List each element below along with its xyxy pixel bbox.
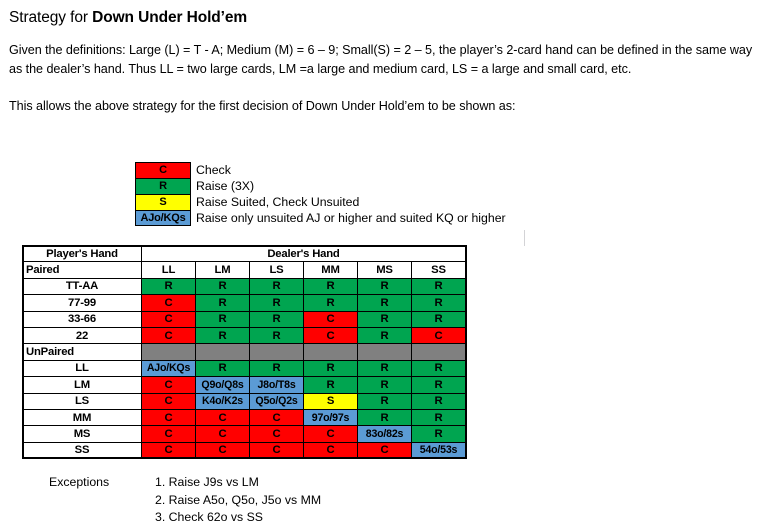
dealer-column-header-ms: MS: [358, 262, 412, 278]
strategy-cell: R: [358, 360, 412, 376]
section-spacer-cell: [358, 344, 412, 360]
strategy-cell: C: [142, 327, 196, 343]
strategy-cell: C: [142, 295, 196, 311]
strategy-cell: R: [358, 409, 412, 425]
table-row: MSCCCC83o/82sR: [23, 426, 466, 442]
strategy-cell: C: [250, 409, 304, 425]
strategy-cell: K4o/K2s: [196, 393, 250, 409]
strategy-cell: R: [412, 377, 466, 393]
strategy-cell: 54o/53s: [412, 442, 466, 458]
strategy-cell: C: [142, 311, 196, 327]
strategy-cell: R: [304, 360, 358, 376]
player-hand-label: 77-99: [23, 295, 142, 311]
section-spacer-cell: [142, 344, 196, 360]
section-header-unpaired: UnPaired: [23, 344, 142, 360]
strategy-cell: R: [304, 377, 358, 393]
strategy-cell: C: [304, 311, 358, 327]
legend-row: AJo/KQsRaise only unsuited AJ or higher …: [135, 210, 506, 226]
player-hand-label: MM: [23, 409, 142, 425]
exceptions-list: 1. Raise J9s vs LM2. Raise A5o, Q5o, J5o…: [155, 474, 321, 527]
table-column-header-row: PairedLLLMLSMMMSSS: [23, 262, 466, 278]
strategy-cell: C: [196, 442, 250, 458]
dealer-column-header-lm: LM: [196, 262, 250, 278]
legend-description: Raise Suited, Check Unsuited: [196, 194, 359, 210]
strategy-cell: C: [304, 442, 358, 458]
strategy-cell: R: [358, 327, 412, 343]
exception-item: 2. Raise A5o, Q5o, J5o vs MM: [155, 492, 321, 510]
strategy-cell: R: [358, 311, 412, 327]
player-hand-label: MS: [23, 426, 142, 442]
strategy-cell: C: [142, 377, 196, 393]
dealer-hand-header: Dealer's Hand: [142, 246, 466, 262]
strategy-cell: 97o/97s: [304, 409, 358, 425]
section-spacer-cell: [304, 344, 358, 360]
strategy-cell: R: [412, 360, 466, 376]
strategy-cell: Q5o/Q2s: [250, 393, 304, 409]
strategy-cell: C: [142, 393, 196, 409]
intro-paragraph: This allows the above strategy for the f…: [9, 97, 754, 116]
strategy-cell: C: [142, 409, 196, 425]
legend-row: RRaise (3X): [135, 178, 506, 194]
player-hand-label: 33-66: [23, 311, 142, 327]
strategy-cell: J8o/T8s: [250, 377, 304, 393]
player-hand-label: 22: [23, 327, 142, 343]
section-header-row-unpaired: UnPaired: [23, 344, 466, 360]
table-header-row: Player's HandDealer's Hand: [23, 246, 466, 262]
player-hand-label: SS: [23, 442, 142, 458]
strategy-cell: Q9o/Q8s: [196, 377, 250, 393]
section-spacer-cell: [196, 344, 250, 360]
strategy-cell: C: [304, 426, 358, 442]
dealer-column-header-mm: MM: [304, 262, 358, 278]
player-hand-header: Player's Hand: [23, 246, 142, 262]
strategy-table: Player's HandDealer's HandPairedLLLMLSMM…: [22, 245, 466, 459]
strategy-cell: R: [250, 295, 304, 311]
strategy-cell: R: [358, 377, 412, 393]
page-title-subject: Down Under Hold’em: [92, 9, 247, 26]
strategy-cell: C: [250, 442, 304, 458]
table-row: 33-66CRRCRR: [23, 311, 466, 327]
table-row: TT-AARRRRRR: [23, 278, 466, 294]
player-hand-label: LL: [23, 360, 142, 376]
strategy-cell: C: [142, 442, 196, 458]
player-hand-label: LS: [23, 393, 142, 409]
dealer-column-header-ll: LL: [142, 262, 196, 278]
strategy-cell: AJo/KQs: [142, 360, 196, 376]
page-title-prefix: Strategy for: [9, 9, 92, 26]
strategy-cell: R: [358, 278, 412, 294]
text-cursor-artifact: [524, 230, 525, 246]
strategy-cell: R: [250, 360, 304, 376]
exception-item: 1. Raise J9s vs LM: [155, 474, 321, 492]
table-row: 77-99CRRRRR: [23, 295, 466, 311]
player-hand-label: LM: [23, 377, 142, 393]
table-row: 22CRRCRC: [23, 327, 466, 343]
strategy-cell: R: [304, 295, 358, 311]
table-row: LSCK4o/K2sQ5o/Q2sSRR: [23, 393, 466, 409]
strategy-cell: R: [412, 426, 466, 442]
strategy-cell: R: [412, 278, 466, 294]
dealer-column-header-ls: LS: [250, 262, 304, 278]
strategy-cell: R: [412, 311, 466, 327]
strategy-cell: R: [142, 278, 196, 294]
strategy-cell: R: [250, 311, 304, 327]
strategy-cell: R: [304, 278, 358, 294]
strategy-cell: C: [250, 426, 304, 442]
strategy-cell: C: [412, 327, 466, 343]
legend: CCheckRRaise (3X)SRaise Suited, Check Un…: [135, 162, 506, 226]
legend-description: Raise only unsuited AJ or higher and sui…: [196, 210, 506, 226]
strategy-cell: C: [196, 426, 250, 442]
strategy-cell: R: [196, 360, 250, 376]
strategy-cell: C: [196, 409, 250, 425]
player-hand-label: TT-AA: [23, 278, 142, 294]
dealer-column-header-ss: SS: [412, 262, 466, 278]
table-row: LLAJo/KQsRRRRR: [23, 360, 466, 376]
strategy-cell: R: [196, 295, 250, 311]
table-row: LMCQ9o/Q8sJ8o/T8sRRR: [23, 377, 466, 393]
legend-swatch: AJo/KQs: [135, 210, 191, 226]
strategy-cell: C: [358, 442, 412, 458]
strategy-cell: R: [196, 327, 250, 343]
legend-row: SRaise Suited, Check Unsuited: [135, 194, 506, 210]
legend-swatch: S: [135, 194, 191, 210]
strategy-cell: R: [412, 393, 466, 409]
strategy-cell: S: [304, 393, 358, 409]
table-row: SSCCCCC54o/53s: [23, 442, 466, 458]
strategy-cell: R: [250, 327, 304, 343]
section-spacer-cell: [412, 344, 466, 360]
legend-swatch: C: [135, 162, 191, 178]
strategy-cell: R: [412, 295, 466, 311]
page-title: Strategy for Down Under Hold’em: [9, 8, 247, 27]
strategy-cell: R: [196, 311, 250, 327]
strategy-cell: R: [358, 295, 412, 311]
legend-description: Raise (3X): [196, 178, 254, 194]
strategy-cell: R: [196, 278, 250, 294]
legend-swatch: R: [135, 178, 191, 194]
legend-description: Check: [196, 162, 231, 178]
strategy-cell: R: [358, 393, 412, 409]
section-header-paired: Paired: [23, 262, 142, 278]
strategy-cell: R: [412, 409, 466, 425]
strategy-cell: R: [250, 278, 304, 294]
table-row: MMCCC97o/97sRR: [23, 409, 466, 425]
definitions-paragraph: Given the definitions: Large (L) = T - A…: [9, 41, 754, 78]
legend-row: CCheck: [135, 162, 506, 178]
strategy-cell: C: [304, 327, 358, 343]
strategy-cell: C: [142, 426, 196, 442]
section-spacer-cell: [250, 344, 304, 360]
exceptions-label: Exceptions: [49, 474, 109, 491]
strategy-cell: 83o/82s: [358, 426, 412, 442]
exception-item: 3. Check 62o vs SS: [155, 509, 321, 527]
